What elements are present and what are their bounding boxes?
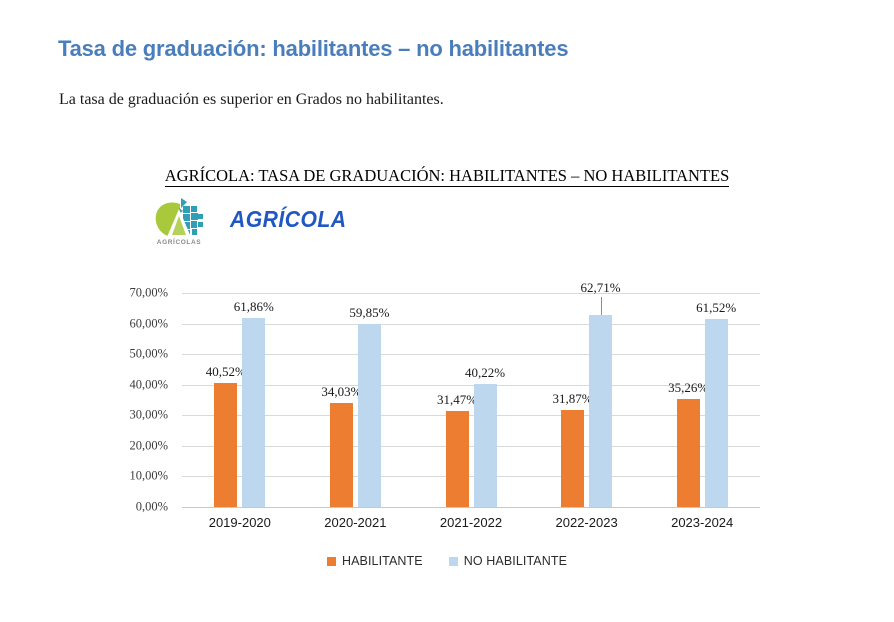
legend-swatch-icon: [327, 557, 336, 566]
y-axis-tick-label: 0,00%: [110, 500, 168, 515]
page-subtitle: La tasa de graduación es superior en Gra…: [59, 91, 444, 109]
page-title: Tasa de graduación: habilitantes – no ha…: [58, 36, 568, 62]
y-axis-tick-label: 40,00%: [110, 377, 168, 392]
x-axis-category-label: 2019-2020: [209, 515, 271, 530]
legend-entry[interactable]: NO HABILITANTE: [449, 554, 567, 568]
y-axis-tick-label: 50,00%: [110, 347, 168, 362]
y-axis-tick-label: 60,00%: [110, 316, 168, 331]
x-axis: 2019-20202020-20212021-20222022-20232023…: [182, 150, 760, 590]
plot-area: 70,00%60,00%50,00%40,00%30,00%20,00%10,0…: [0, 150, 894, 590]
legend-label: HABILITANTE: [342, 554, 423, 568]
legend-entry[interactable]: HABILITANTE: [327, 554, 423, 568]
legend-swatch-icon: [449, 557, 458, 566]
y-axis-tick-label: 10,00%: [110, 469, 168, 484]
chart-legend: HABILITANTENO HABILITANTE: [0, 554, 894, 568]
x-axis-category-label: 2021-2022: [440, 515, 502, 530]
x-axis-category-label: 2022-2023: [556, 515, 618, 530]
x-axis-category-label: 2023-2024: [671, 515, 733, 530]
legend-label: NO HABILITANTE: [464, 554, 567, 568]
y-axis-tick-label: 20,00%: [110, 438, 168, 453]
x-axis-category-label: 2020-2021: [324, 515, 386, 530]
chart-container: AGRÍCOLA: TASA DE GRADUACIÓN: HABILITANT…: [0, 150, 894, 590]
y-axis: 70,00%60,00%50,00%40,00%30,00%20,00%10,0…: [110, 150, 168, 590]
y-axis-tick-label: 70,00%: [110, 286, 168, 301]
y-axis-tick-label: 30,00%: [110, 408, 168, 423]
